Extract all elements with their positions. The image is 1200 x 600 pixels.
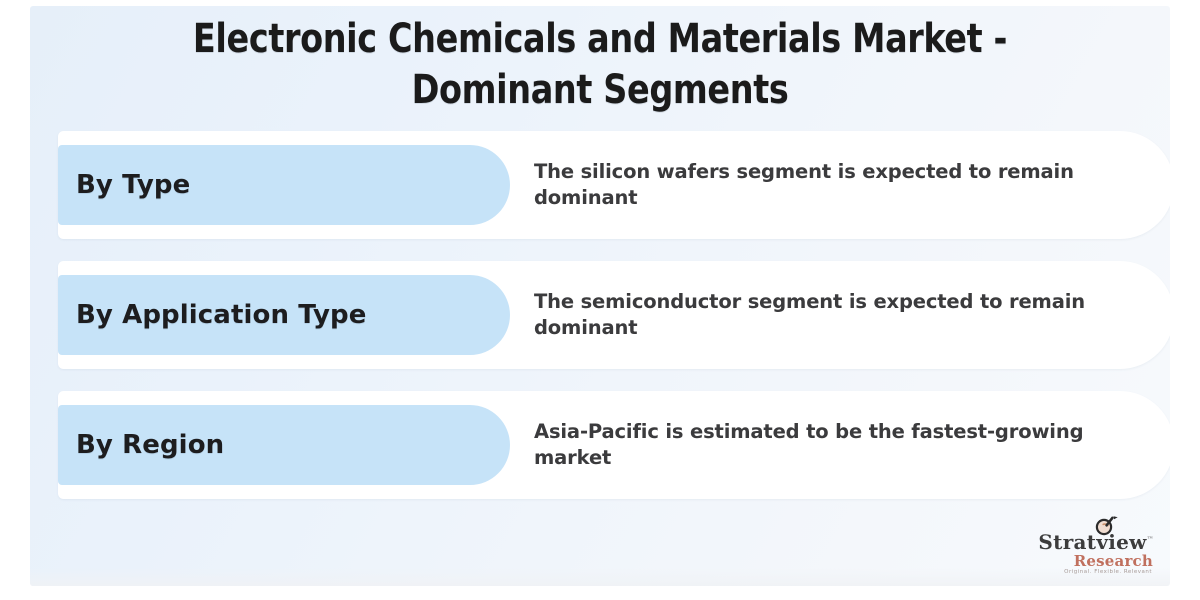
segment-pill: By Type: [58, 145, 510, 225]
slide-canvas: Electronic Chemicals and Materials Marke…: [30, 6, 1170, 586]
segment-label: By Type: [76, 170, 190, 200]
segment-description: The semiconductor segment is expected to…: [534, 289, 1126, 341]
table-row: By Region Asia-Pacific is estimated to b…: [58, 391, 1170, 499]
slide-frame: Electronic Chemicals and Materials Marke…: [0, 0, 1200, 600]
table-row: By Type The silicon wafers segment is ex…: [58, 131, 1170, 239]
segment-row-list: By Type The silicon wafers segment is ex…: [58, 131, 1170, 499]
logo-trademark: ™: [1147, 535, 1154, 543]
logo-wordmark: Stratview™: [1038, 530, 1154, 554]
logo-name: Stratview: [1038, 530, 1146, 554]
page-title: Electronic Chemicals and Materials Marke…: [107, 14, 1093, 116]
segment-description: The silicon wafers segment is expected t…: [534, 159, 1126, 211]
segment-description: Asia-Pacific is estimated to be the fast…: [534, 419, 1126, 471]
table-row: By Application Type The semiconductor se…: [58, 261, 1170, 369]
segment-pill: By Region: [58, 405, 510, 485]
segment-label: By Region: [76, 430, 224, 460]
logo-tagline: Original. Flexible. Relevant: [1064, 569, 1152, 575]
segment-label: By Application Type: [76, 300, 366, 330]
brand-logo: Stratview™ Research Original. Flexible. …: [1010, 516, 1158, 578]
logo-subtitle: Research: [1074, 552, 1153, 570]
segment-pill: By Application Type: [58, 275, 510, 355]
